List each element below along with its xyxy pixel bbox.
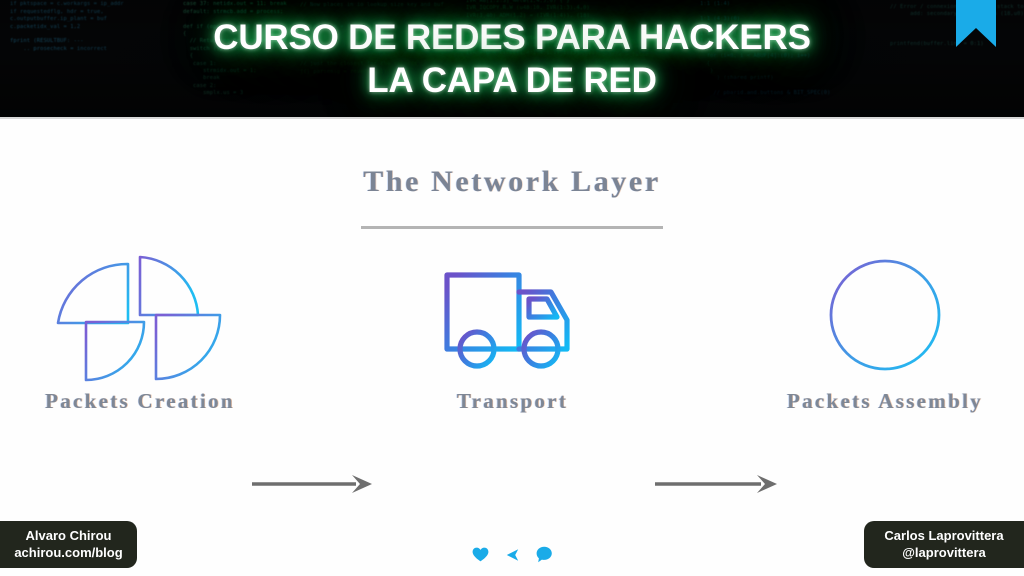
step-transport: Transport — [400, 249, 625, 414]
bookmark-icon[interactable] — [956, 0, 996, 47]
step-label: Packets Creation — [20, 389, 260, 414]
step-packets-creation: Packets Creation — [20, 249, 260, 414]
slide: p.result = 00:4A:41A if pktspace = c.wor… — [0, 0, 1024, 576]
arrow-step-1-to-2 — [252, 473, 374, 495]
process-steps: Packets Creation — [0, 249, 1024, 449]
diagram-title: The Network Layer — [0, 165, 1024, 199]
title-divider — [361, 226, 663, 229]
slide-body: The Network Layer — [0, 119, 1024, 576]
page-title: CURSO DE REDES PARA HACKERS LA CAPA DE R… — [0, 16, 1024, 102]
slide-header: p.result = 00:4A:41A if pktspace = c.wor… — [0, 0, 1024, 119]
step-packets-assembly: Packets Assembly — [760, 249, 1010, 414]
share-icon[interactable] — [506, 548, 519, 562]
circle-quadrants-icon — [760, 249, 1010, 389]
step-label: Packets Assembly — [760, 389, 1010, 414]
delivery-truck-icon — [400, 249, 625, 389]
arrow-step-2-to-3 — [655, 473, 779, 495]
step-label: Transport — [400, 389, 625, 414]
pinwheel-quadrants-icon — [20, 249, 260, 389]
heart-icon[interactable] — [472, 547, 489, 562]
comment-icon[interactable] — [536, 546, 553, 563]
social-actions — [0, 546, 1024, 563]
